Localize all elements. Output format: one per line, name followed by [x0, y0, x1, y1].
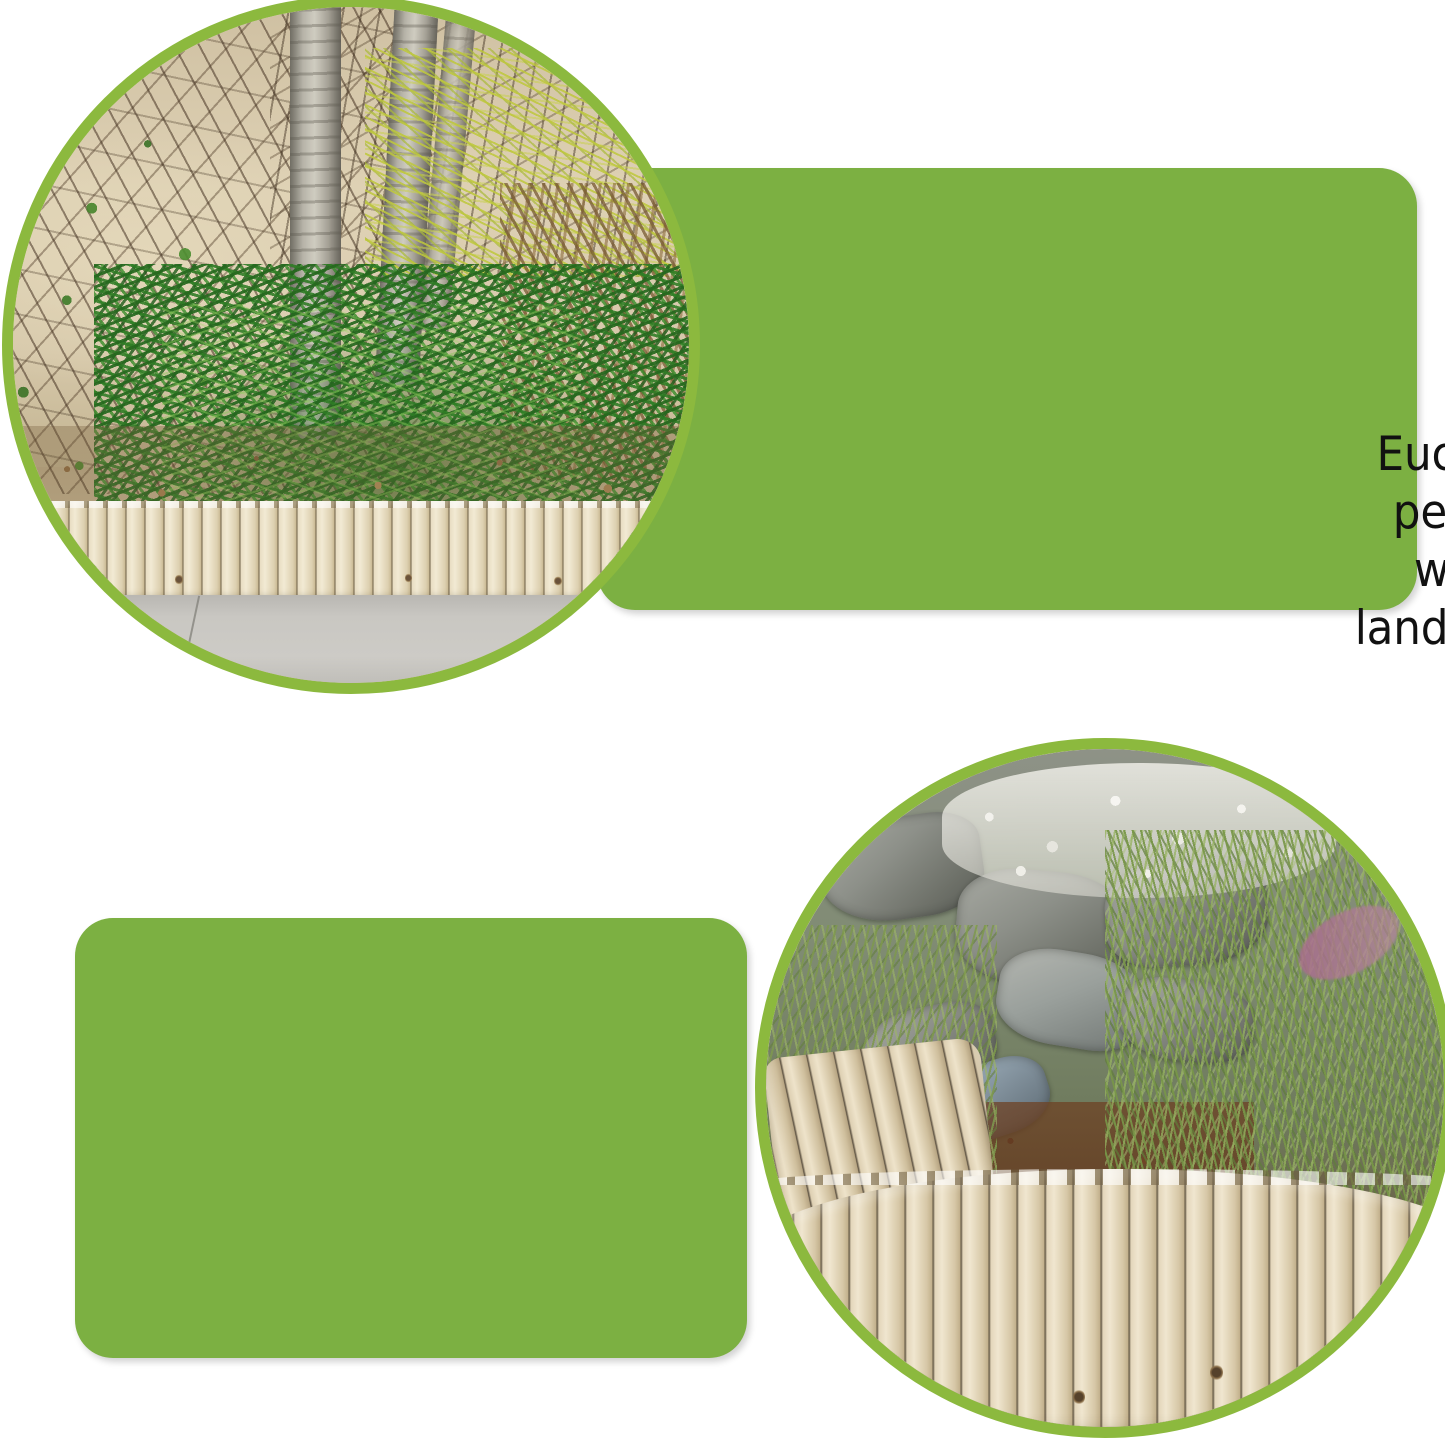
log-knot-icon	[175, 574, 183, 585]
log-knot-icon	[1316, 1382, 1328, 1397]
eucalyptus-log-border-bottom	[766, 1169, 1444, 1427]
bottom-text-panel: Flexibility and versatility make Eucalyp…	[75, 918, 747, 1358]
log-knot-icon	[554, 576, 562, 586]
log-knot-icon	[405, 573, 412, 583]
log-knot-icon	[1073, 1389, 1085, 1405]
top-panel-text: Eucalyptus borders are perfect for enhan…	[1320, 426, 1445, 658]
feature-graphic-canvas: Eucalyptus borders are perfect for enhan…	[0, 0, 1445, 1445]
eucalyptus-log-border-top	[13, 501, 689, 602]
log-knot-icon	[1210, 1364, 1223, 1381]
bottom-photo-inner	[766, 749, 1444, 1427]
bottom-circular-photo	[755, 738, 1445, 1438]
top-circular-photo	[2, 0, 700, 694]
concrete-walkway	[13, 595, 689, 683]
top-photo-inner	[13, 7, 689, 683]
log-knot-icon	[845, 1374, 859, 1392]
top-text-panel: Eucalyptus borders are perfect for enhan…	[597, 168, 1417, 610]
